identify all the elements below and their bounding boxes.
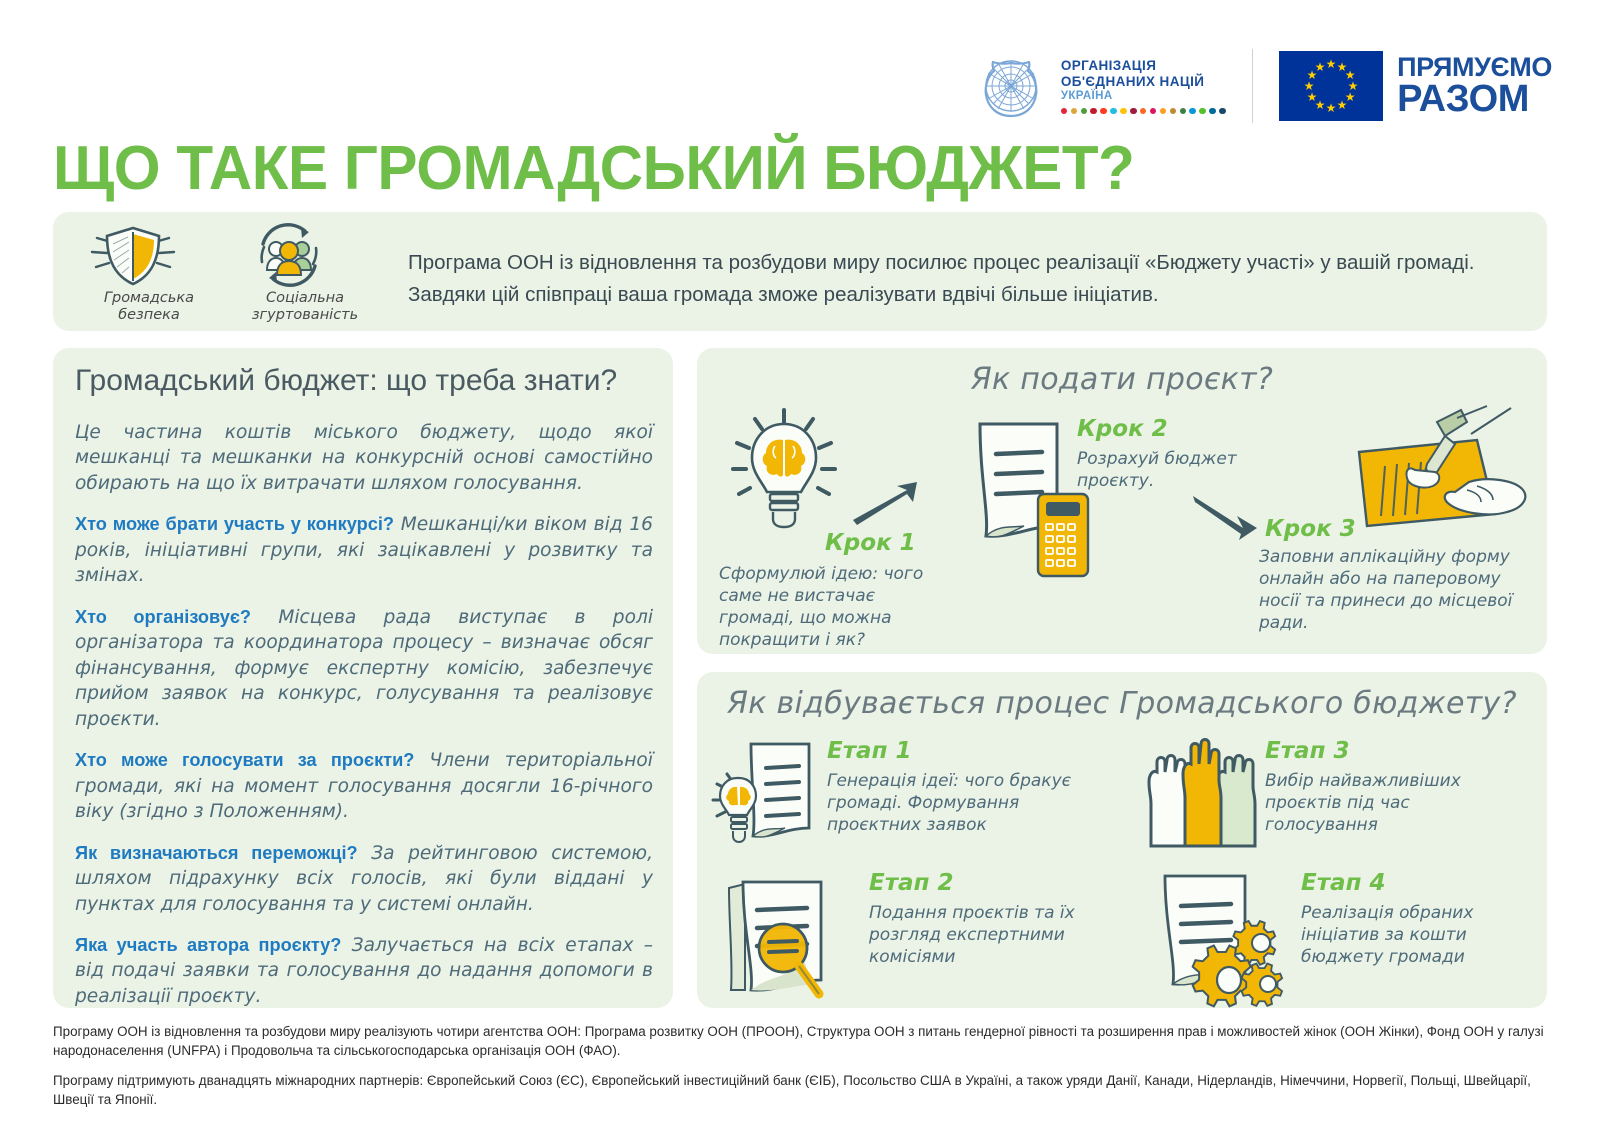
submit-project-panel: Як подати проєкт? К [697, 348, 1547, 654]
knowledge-paragraph: Хто організовує? Місцева рада виступає в… [75, 605, 653, 732]
step-1-label: Крок 1 [825, 530, 916, 556]
raised-hands-icon [1135, 734, 1263, 850]
header-logos: ОРГАНІЗАЦІЯ ОБ'ЄДНАНИХ НАЦІЙ УКРАЇНА ★★★… [975, 44, 1552, 128]
eu-star-icon: ★ [1314, 61, 1326, 73]
document-magnifier-icon [725, 872, 855, 1002]
sdg-dots [1061, 108, 1226, 115]
social-cohesion-icon [239, 222, 339, 288]
stage-1-text: Генерація ідеї: чого бракує громаді. Фор… [827, 770, 1097, 836]
paragraph-body: Це частина коштів міського бюджету, щодо… [75, 422, 653, 494]
footer-line-2: Програму підтримують дванадцять міжнарод… [53, 1071, 1553, 1109]
process-panel-title: Як відбувається процес Громадського бюдж… [697, 672, 1547, 721]
un-logo: ОРГАНІЗАЦІЯ ОБ'ЄДНАНИХ НАЦІЙ УКРАЇНА [975, 50, 1226, 122]
process-panel: Як відбувається процес Громадського бюдж… [697, 672, 1547, 1008]
shield-icon [83, 222, 183, 288]
intro-text: Програма ООН із відновлення та розбудови… [408, 247, 1521, 311]
knowledge-paragraph: Як визначаються переможці? За рейтингово… [75, 841, 653, 917]
knowledge-paragraph: Яка участь автора проєкту? Залучається н… [75, 933, 653, 1009]
sdg-dot [1170, 108, 1177, 115]
un-line-3: УКРАЇНА [1061, 90, 1226, 102]
stage-2-label: Етап 2 [869, 870, 953, 896]
eu-line-1: ПРЯМУЄМО [1397, 55, 1552, 81]
page-title: ЩО ТАКЕ ГРОМАДСЬКИЙ БЮДЖЕТ? [53, 133, 1134, 204]
stage-1-label: Етап 1 [827, 738, 911, 764]
un-logo-text: ОРГАНІЗАЦІЯ ОБ'ЄДНАНИХ НАЦІЙ УКРАЇНА [1061, 58, 1226, 115]
stage-4-label: Етап 4 [1301, 870, 1385, 896]
un-line-1: ОРГАНІЗАЦІЯ [1061, 58, 1226, 73]
lightbulb-brain-icon [719, 406, 849, 546]
sdg-dot [1199, 108, 1206, 115]
infographic-page: ОРГАНІЗАЦІЯ ОБ'ЄДНАНИХ НАЦІЙ УКРАЇНА ★★★… [0, 0, 1600, 1132]
eu-line-2: РАЗОМ [1397, 81, 1552, 117]
intro-panel: Громадська безпека [53, 212, 1547, 331]
document-calculator-icon [972, 418, 1102, 578]
intro-icons: Громадська безпека [83, 222, 371, 323]
paragraph-lead: Хто може брати участь у конкурсі? [75, 514, 394, 534]
un-line-2: ОБ'ЄДНАНИХ НАЦІЙ [1061, 74, 1226, 89]
stage-3-text: Вибір найважливіших проєктів під час гол… [1265, 770, 1515, 836]
sdg-dot [1061, 108, 1068, 115]
sdg-dot [1120, 108, 1127, 115]
bulb-document-icon [711, 740, 821, 860]
sdg-dot [1150, 108, 1157, 115]
submit-panel-title: Як подати проєкт? [697, 348, 1547, 397]
shield-icon-caption: Громадська безпека [83, 290, 215, 323]
knowledge-paragraph: Хто може брати участь у конкурсі? Мешкан… [75, 512, 653, 588]
community-safety-block: Громадська безпека [83, 222, 215, 323]
step-1-text: Сформулюй ідею: чого саме не вистачає гр… [719, 563, 949, 651]
arrow-right-down-icon [1187, 488, 1267, 548]
intro-text-line-2: Завдяки цій співпраці ваша громада зможе… [408, 279, 1521, 311]
eu-logo-text: ПРЯМУЄМО РАЗОМ [1397, 55, 1552, 117]
sdg-dot [1140, 108, 1147, 115]
sdg-dot [1130, 108, 1137, 115]
knowledge-paragraph-list: Це частина коштів міського бюджету, щодо… [75, 420, 653, 1025]
eu-star-icon: ★ [1325, 102, 1337, 114]
sdg-dot [1180, 108, 1187, 115]
step-2-text: Розрахуй бюджет проєкту. [1077, 448, 1277, 492]
hand-writing-icon [1337, 404, 1537, 544]
sdg-dot [1100, 108, 1107, 115]
arrow-right-up-icon [847, 478, 927, 528]
step-3-text: Заповни аплікаційну форму онлайн або на … [1259, 546, 1514, 634]
knowledge-paragraph: Це частина коштів міського бюджету, щодо… [75, 420, 653, 496]
knowledge-panel-title: Громадський бюджет: що треба знати? [75, 364, 617, 398]
sdg-dot [1071, 108, 1078, 115]
sdg-dot [1189, 108, 1196, 115]
paragraph-lead: Яка участь автора проєкту? [75, 935, 341, 955]
stage-3-label: Етап 3 [1265, 738, 1349, 764]
paragraph-lead: Хто може голосувати за проєкти? [75, 750, 414, 770]
sdg-dot [1219, 108, 1226, 115]
un-emblem-icon [975, 50, 1047, 122]
stage-4-text: Реалізація обраних ініціатив за кошти бю… [1301, 902, 1533, 968]
paragraph-lead: Як визначаються переможці? [75, 843, 358, 863]
footer-line-1: Програму ООН із відновлення та розбудови… [53, 1022, 1553, 1060]
eu-logo: ★★★★★★★★★★★★ ПРЯМУЄМО РАЗОМ [1279, 51, 1552, 121]
sdg-dot [1160, 108, 1167, 115]
paragraph-lead: Хто організовує? [75, 607, 251, 627]
document-gears-icon [1149, 868, 1289, 1004]
footer: Програму ООН із відновлення та розбудови… [53, 1022, 1553, 1120]
sdg-dot [1090, 108, 1097, 115]
intro-text-line-1: Програма ООН із відновлення та розбудови… [408, 247, 1521, 279]
eu-flag-icon: ★★★★★★★★★★★★ [1279, 51, 1383, 121]
knowledge-panel: Громадський бюджет: що треба знати? Це ч… [53, 348, 673, 1008]
eu-star-icon: ★ [1336, 99, 1348, 111]
logo-divider [1252, 49, 1254, 123]
sdg-dot [1081, 108, 1088, 115]
sdg-dot [1110, 108, 1117, 115]
social-cohesion-caption: Соціальна згуртованість [239, 290, 371, 323]
knowledge-paragraph: Хто може голосувати за проєкти? Члени те… [75, 748, 653, 824]
sdg-dot [1209, 108, 1216, 115]
step-2-label: Крок 2 [1077, 416, 1168, 442]
stage-2-text: Подання проєктів та їх розгляд експертни… [869, 902, 1119, 968]
social-cohesion-block: Соціальна згуртованість [239, 222, 371, 323]
